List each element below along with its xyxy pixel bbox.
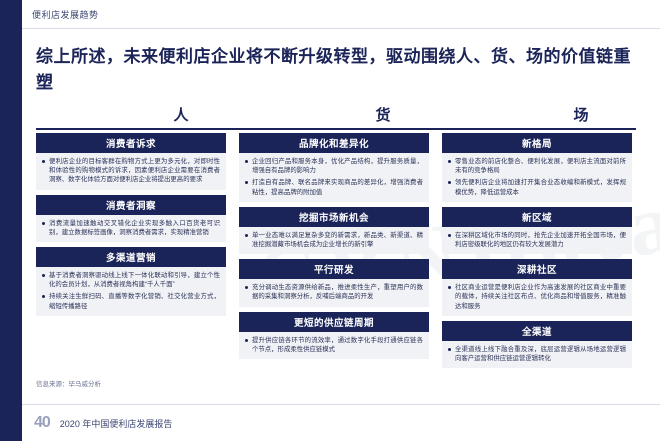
bullet: 全渠道线上线下融合重及深，底层运营逻辑从场地运营逻辑向客户运营和供应链运营逻辑转… bbox=[448, 345, 626, 363]
card: 品牌化和差异化 企业回归产品和服务本身，优化产品结构，提升服务质量，增强自有品牌… bbox=[239, 133, 429, 202]
header-rule bbox=[36, 128, 636, 130]
column-head-place: 场 bbox=[486, 104, 660, 125]
bullet: 企业回归产品和服务本身，优化产品结构，提升服务质量，增强自有品牌的影响力 bbox=[245, 157, 423, 175]
column-goods: 品牌化和差异化 企业回归产品和服务本身，优化产品结构，提升服务质量，增强自有品牌… bbox=[239, 133, 429, 364]
page-number: 40 bbox=[34, 414, 50, 432]
card: 全渠道 全渠道线上线下融合重及深，底层运营逻辑从场地运营逻辑向客户运营和供应链运… bbox=[442, 321, 632, 368]
page-header: 便利店发展趋势 bbox=[22, 0, 660, 29]
card-body: 单一业态难以满足复杂多变的新需求，新品类、新渠道、精准挖掘潜藏市场机会成为企业增… bbox=[239, 227, 429, 254]
card: 消费者洞察 消费流量加速触动交叉错化企业实现多触入口百货老可识别，建立数据标签画… bbox=[36, 195, 226, 242]
page-title: 综上所述，未来便利店企业将不断升级转型，驱动围绕人、货、场的价值链重塑 bbox=[36, 44, 636, 96]
column-heads: 人 货 场 bbox=[36, 104, 636, 126]
card-body: 全渠道线上线下融合重及深，底层运营逻辑从场地运营逻辑向客户运营和供应链运营逻辑转… bbox=[442, 341, 632, 368]
card: 深耕社区 社区商业运营是便利店企业作为高速发展的社区商业中重要的载体，持续关注社… bbox=[442, 259, 632, 316]
card-title: 深耕社区 bbox=[442, 259, 632, 279]
bullet: 提升供应链各环节的流效率，通过数字化手段打通供应链各个节点，形成柔性供应链模式 bbox=[245, 336, 423, 354]
card-title: 多渠道营销 bbox=[36, 247, 226, 267]
card: 多渠道营销 基于消费者洞察驱动线上线下一体化联动和引导，建立个性化的会员计划，从… bbox=[36, 247, 226, 316]
card-body: 便利店企业的目标客群在购物方式上更为多元化，对即时性和体验性的购物模式的诉求，因… bbox=[36, 153, 226, 190]
card-title: 平行研发 bbox=[239, 259, 429, 279]
card-title: 新格局 bbox=[442, 133, 632, 153]
card: 消费者诉求 便利店企业的目标客群在购物方式上更为多元化，对即时性和体验性的购物模… bbox=[36, 133, 226, 190]
card-title: 新区域 bbox=[442, 207, 632, 227]
bullet: 便利店企业的目标客群在购物方式上更为多元化，对即时性和体验性的购物模式的诉求，因… bbox=[42, 157, 220, 185]
bullet: 打造自有品牌、联名品牌来实现商品的差异化，增强消费者粘性，提高品牌的附加值 bbox=[245, 178, 423, 196]
bullet: 消费流量加速触动交叉错化企业实现多触入口百货老可识别，建立数据标签画像，洞察消费… bbox=[42, 219, 220, 237]
card-title: 全渠道 bbox=[442, 321, 632, 341]
column-place: 新格局 零售业态的前店化整合、便利化发展，便利店主流面对前所未有的竞争格局 领先… bbox=[442, 133, 632, 373]
bullet: 领先便利店企业将加速打开集合业态收编和新模式，发挥规模优势，降低运营成本 bbox=[448, 178, 626, 196]
column-people: 消费者诉求 便利店企业的目标客群在购物方式上更为多元化，对即时性和体验性的购物模… bbox=[36, 133, 226, 321]
content-columns: 消费者诉求 便利店企业的目标客群在购物方式上更为多元化，对即时性和体验性的购物模… bbox=[36, 133, 636, 369]
slide-page: 便利店发展趋势 综上所述，未来便利店企业将不断升级转型，驱动围绕人、货、场的价值… bbox=[0, 0, 660, 441]
card-body: 基于消费者洞察驱动线上线下一体化联动和引导，建立个性化的会员计划，从消费者视角构… bbox=[36, 267, 226, 316]
card-title: 挖掘市场新机会 bbox=[239, 207, 429, 227]
card-body: 企业回归产品和服务本身，优化产品结构，提升服务质量，增强自有品牌的影响力 打造自… bbox=[239, 153, 429, 202]
bullet: 基于消费者洞察驱动线上线下一体化联动和引导，建立个性化的会员计划，从消费者视角构… bbox=[42, 271, 220, 289]
card: 更短的供应链周期 提升供应链各环节的流效率，通过数字化手段打通供应链各个节点，形… bbox=[239, 312, 429, 359]
header-title: 便利店发展趋势 bbox=[32, 8, 99, 21]
column-head-people: 人 bbox=[86, 104, 276, 125]
bullet: 单一业态难以满足复杂多变的新需求，新品类、新渠道、精准挖掘潜藏市场机会成为企业增… bbox=[245, 231, 423, 249]
card-title: 更短的供应链周期 bbox=[239, 312, 429, 332]
card-body: 零售业态的前店化整合、便利化发展，便利店主流面对前所未有的竞争格局 领先便利店企… bbox=[442, 153, 632, 202]
bullet: 社区商业运营是便利店企业作为高速发展的社区商业中重要的载体，持续关注社区布点、优… bbox=[448, 283, 626, 311]
card-body: 提升供应链各环节的流效率，通过数字化手段打通供应链各个节点，形成柔性供应链模式 bbox=[239, 332, 429, 359]
card-body: 社区商业运营是便利店企业作为高速发展的社区商业中重要的载体，持续关注社区布点、优… bbox=[442, 279, 632, 316]
card: 新格局 零售业态的前店化整合、便利化发展，便利店主流面对前所未有的竞争格局 领先… bbox=[442, 133, 632, 202]
card: 平行研发 充分调动生态资源供给新品，推进柔性生产，重塑用户的数据的采集和洞察分析… bbox=[239, 259, 429, 306]
page-footer: 40 2020 年中国便利店发展报告 bbox=[22, 404, 660, 441]
card-body: 充分调动生态资源供给新品，推进柔性生产，重塑用户的数据的采集和洞察分析，反哺后端… bbox=[239, 279, 429, 306]
card: 挖掘市场新机会 单一业态难以满足复杂多变的新需求，新品类、新渠道、精准挖掘潜藏市… bbox=[239, 207, 429, 254]
card-title: 品牌化和差异化 bbox=[239, 133, 429, 153]
card-body: 在深耕区域化市场的同时，抢先企业加速开拓全国市场，便利店密级联化的地区仍有较大发… bbox=[442, 227, 632, 254]
card-body: 消费流量加速触动交叉错化企业实现多触入口百货老可识别，建立数据标签画像，洞察消费… bbox=[36, 215, 226, 242]
bullet: 零售业态的前店化整合、便利化发展，便利店主流面对前所未有的竞争格局 bbox=[448, 157, 626, 175]
footer-text: 2020 年中国便利店发展报告 bbox=[60, 417, 173, 430]
bullet: 充分调动生态资源供给新品，推进柔性生产，重塑用户的数据的采集和洞察分析，反哺后端… bbox=[245, 283, 423, 301]
card-title: 消费者洞察 bbox=[36, 195, 226, 215]
card: 新区域 在深耕区域化市场的同时，抢先企业加速开拓全国市场，便利店密级联化的地区仍… bbox=[442, 207, 632, 254]
source-note: 信息来源：毕马威分析 bbox=[36, 378, 101, 388]
column-head-goods: 货 bbox=[288, 104, 478, 125]
card-title: 消费者诉求 bbox=[36, 133, 226, 153]
bullet: 持续关注生鲜扫码、直播等数字化营销、社交化营业方式，缩短传播路径 bbox=[42, 292, 220, 310]
bullet: 在深耕区域化市场的同时，抢先企业加速开拓全国市场，便利店密级联化的地区仍有较大发… bbox=[448, 231, 626, 249]
left-rail-decoration bbox=[0, 0, 22, 441]
